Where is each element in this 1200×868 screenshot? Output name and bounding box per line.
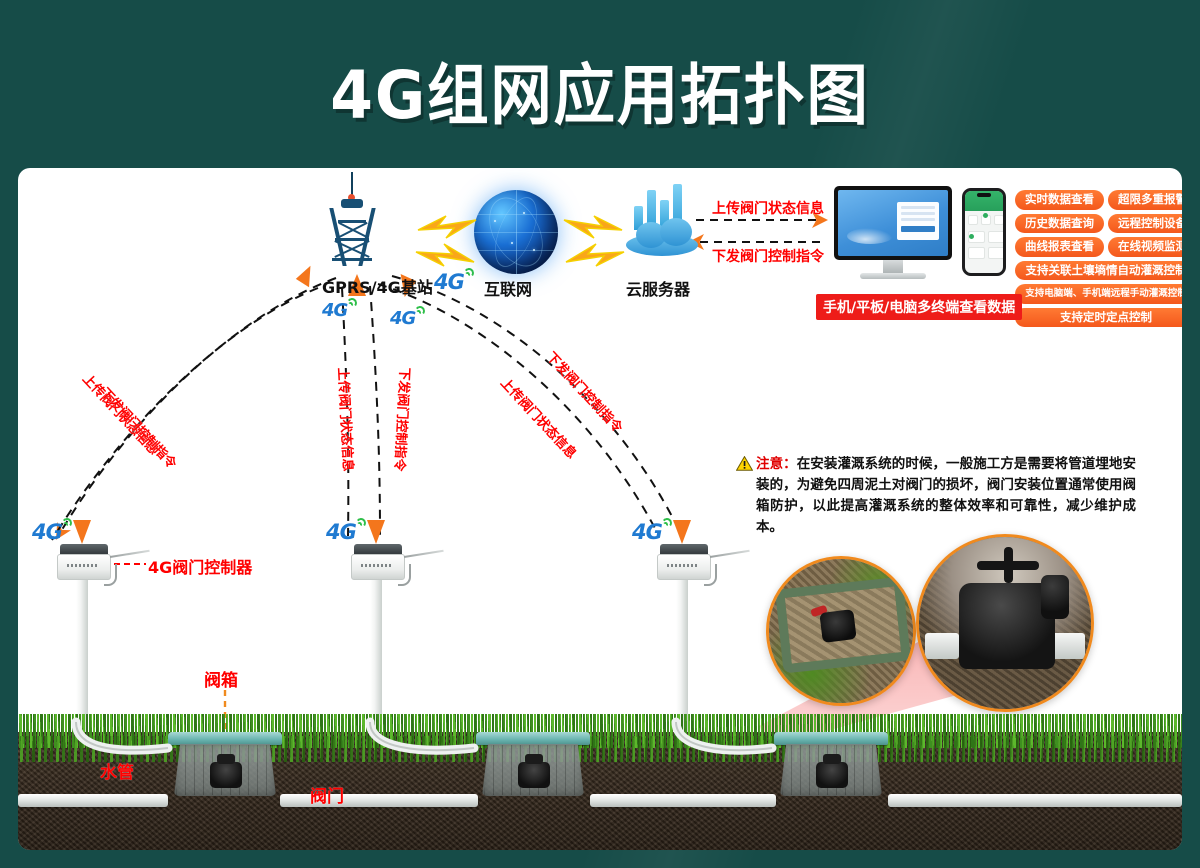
valve-closeup-photo — [916, 534, 1094, 712]
page-title-wrap: 4G组网应用拓扑图 — [0, 42, 1200, 138]
monitor-wallpaper-art — [847, 228, 893, 244]
controller-body — [657, 554, 711, 580]
g4-badge-controller-2: 4G — [326, 520, 356, 544]
cloud-uplink-label: 上传阀门状态信息 — [712, 198, 824, 218]
arc-label-left-downlink: 下发阀门控制指令 — [97, 383, 182, 472]
g4-badge-text: 4G — [326, 520, 356, 544]
valve-box-label: 阀箱 — [204, 666, 238, 691]
signal-wave-icon — [464, 267, 477, 279]
controller-callout-label: 4G阀门控制器 — [148, 554, 252, 578]
dialog-line — [901, 218, 935, 221]
g4-badge-text: 4G — [434, 270, 464, 294]
photo-valve-handle — [977, 561, 1039, 570]
g4-badge-text: 4G — [632, 520, 662, 544]
warning-triangle-icon — [736, 456, 753, 471]
feature-badge[interactable]: 支持电脑端、手机端远程手动灌溉控制 — [1015, 284, 1182, 304]
smartphone-icon — [962, 188, 1006, 276]
g4-badge-tower-left: 4G — [322, 300, 347, 321]
notice-keyword: 注意： — [756, 456, 797, 472]
desktop-monitor-icon — [834, 186, 952, 281]
cloud-icon — [626, 218, 698, 256]
monitor-screen — [834, 186, 952, 260]
monitor-desktop — [838, 190, 948, 256]
g4-badge-text: 4G — [32, 520, 62, 544]
cloud-server-label: 云服务器 — [626, 276, 690, 300]
phone-list-row[interactable] — [988, 231, 1005, 243]
phone-list-row[interactable] — [988, 247, 1005, 259]
phone-status-dot — [983, 213, 988, 218]
photo-valve-solenoid — [1041, 575, 1069, 619]
dialog-submit-button[interactable] — [901, 226, 935, 232]
internet-label: 互联网 — [484, 276, 532, 300]
controller-cable — [398, 564, 411, 586]
notice-block: 注意：在安装灌溉系统的时候，一般施工方是需要将管道埋地安装的，为避免四周泥土对阀… — [736, 454, 1136, 538]
controller-label-strip — [361, 564, 393, 567]
g4-badge-text: 4G — [322, 300, 347, 321]
phone-status-dot — [969, 234, 974, 239]
notice-text: 注意：在安装灌溉系统的时候，一般施工方是需要将管道埋地安装的，为避免四周泥土对阀… — [736, 454, 1136, 538]
monitor-login-dialog — [897, 202, 939, 240]
monitor-base — [860, 273, 926, 279]
cloud-downlink-label: 下发阀门控制指令 — [712, 246, 824, 266]
monitor-neck — [883, 260, 903, 273]
controller-cable — [104, 564, 117, 586]
feature-badge-list: 实时数据查看 超限多重报警 历史数据查询 远程控制设备 曲线报表查看 在线视频监… — [1015, 190, 1182, 327]
controller-body — [57, 554, 111, 580]
signal-wave-icon — [347, 297, 360, 309]
g4-badge-tower-right: 4G — [434, 270, 464, 294]
feature-badge[interactable]: 实时数据查看 — [1015, 190, 1104, 210]
feature-badge[interactable]: 支持关联土壤墒情自动灌溉控制 — [1015, 261, 1182, 281]
globe-node — [511, 242, 513, 244]
water-pipe-label: 水管 — [100, 758, 134, 783]
valve-box-photo — [766, 556, 916, 706]
controller-antenna-icon — [404, 550, 444, 558]
feature-badge[interactable]: 历史数据查询 — [1015, 214, 1104, 234]
phone-list-row[interactable] — [968, 247, 985, 259]
phone-notch-icon — [977, 193, 991, 197]
terminals-banner: 手机/平板/电脑多终端查看数据 — [816, 294, 1022, 320]
diagram-card: GPRS/4G基站 4G 4G 4G 互联网 — [18, 168, 1182, 850]
controller-antenna-icon — [710, 550, 750, 558]
photo-pipe-left — [925, 633, 959, 659]
arc-label-center-downlink: 下发阀门控制指令 — [391, 367, 415, 472]
controller-antenna-icon — [110, 550, 150, 558]
internet-globe-icon — [474, 190, 558, 274]
g4-badge-tower-center: 4G — [390, 308, 415, 329]
field-ground-scene — [18, 714, 1182, 850]
feature-badge[interactable]: 曲线报表查看 — [1015, 237, 1104, 257]
signal-wave-icon — [662, 517, 675, 529]
tower-brace-2 — [335, 238, 369, 241]
g4-badge-controller-3: 4G — [632, 520, 662, 544]
g4-badge-text: 4G — [390, 308, 415, 329]
feature-badge[interactable]: 支持定时定点控制 — [1015, 308, 1182, 328]
tower-head — [341, 199, 363, 208]
valve-label: 阀门 — [310, 782, 344, 807]
cloud-lobe — [660, 218, 692, 246]
cell-tower-icon — [324, 172, 382, 272]
signal-wave-icon — [62, 517, 75, 529]
phone-tile[interactable] — [994, 215, 1004, 225]
globe-node — [523, 212, 525, 214]
dialog-line — [901, 212, 935, 215]
controller-label-strip — [667, 564, 699, 567]
notice-body: 在安装灌溉系统的时候，一般施工方是需要将管道埋地安装的，为避免四周泥土对阀门的损… — [756, 456, 1136, 535]
feature-badge[interactable]: 在线视频监测 — [1108, 237, 1182, 257]
tower-label: GPRS/4G基站 — [322, 274, 433, 298]
photo-pipe-right — [1051, 633, 1085, 659]
photo-valve — [819, 609, 856, 643]
arc-label-center-uplink: 上传阀门状态信息 — [335, 367, 359, 472]
tower-brace-3 — [332, 258, 372, 261]
controller-label-strip — [67, 564, 99, 567]
globe-node — [533, 249, 535, 251]
signal-wave-icon — [415, 305, 428, 317]
feature-badge[interactable]: 超限多重报警 — [1108, 190, 1182, 210]
feature-badge[interactable]: 远程控制设备 — [1108, 214, 1182, 234]
signal-wave-icon — [356, 517, 369, 529]
phone-tile[interactable] — [968, 215, 978, 225]
riser-curve-pipes — [18, 714, 1182, 850]
g4-badge-controller-1: 4G — [32, 520, 62, 544]
page-title: 4G组网应用拓扑图 — [330, 42, 870, 138]
controller-body — [351, 554, 405, 580]
phone-frame — [962, 188, 1006, 276]
controller-cable — [704, 564, 717, 586]
dialog-line — [901, 206, 935, 209]
